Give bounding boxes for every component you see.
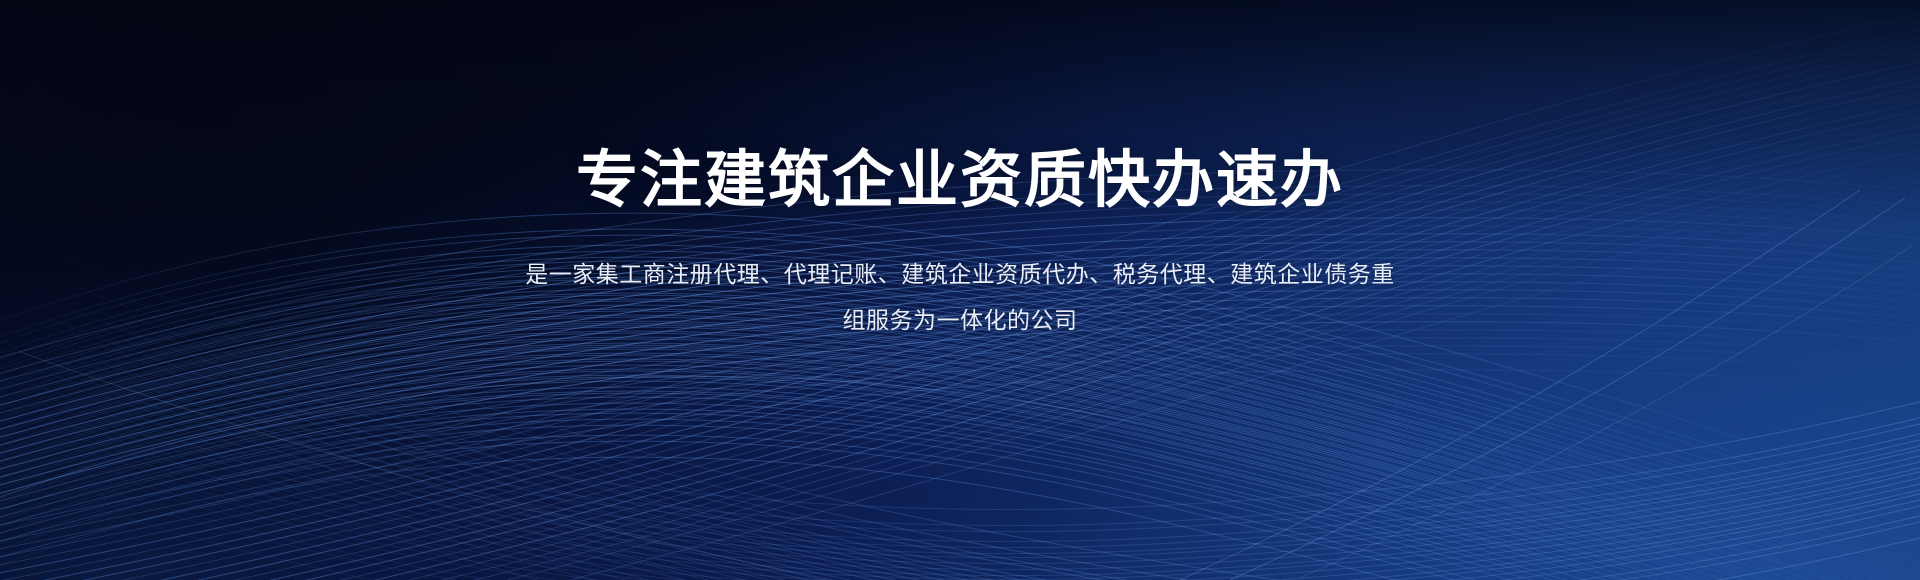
hero-banner: 专注建筑企业资质快办速办 是一家集工商注册代理、代理记账、建筑企业资质代办、税务…	[0, 0, 1920, 580]
page-subtitle: 是一家集工商注册代理、代理记账、建筑企业资质代办、税务代理、建筑企业债务重组服务…	[520, 251, 1400, 343]
page-title: 专注建筑企业资质快办速办	[576, 148, 1344, 215]
banner-content: 专注建筑企业资质快办速办 是一家集工商注册代理、代理记账、建筑企业资质代办、税务…	[0, 0, 1920, 580]
